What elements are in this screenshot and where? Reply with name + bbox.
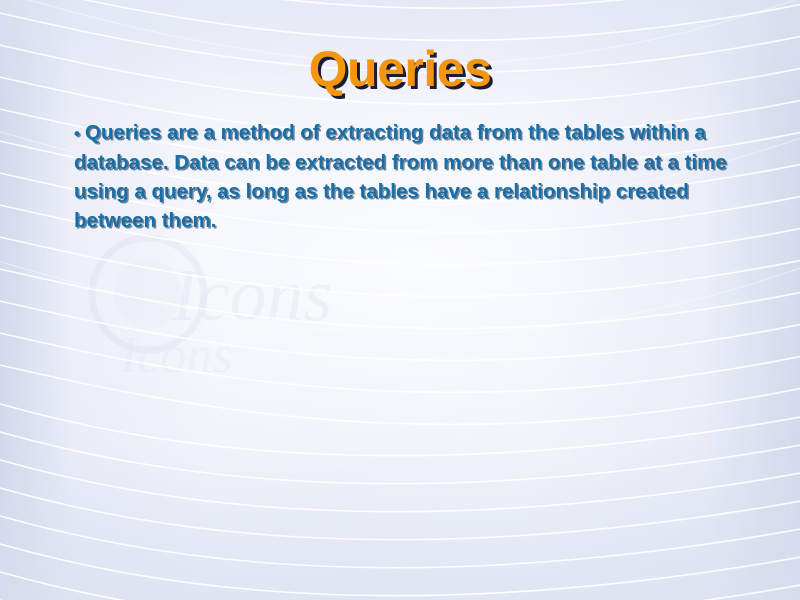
svg-text:Icons: Icons <box>119 327 233 382</box>
slide-body: •Queries are a method of extracting data… <box>74 118 734 235</box>
presentation-slide: Icons Icons <box>0 0 800 600</box>
bullet-marker: • <box>74 124 85 143</box>
watermark-logo: Icons Icons <box>60 232 360 382</box>
watermark-text: Icons <box>171 255 332 337</box>
slide-title: Queries <box>0 40 800 98</box>
bullet-text: Queries are a method of extracting data … <box>74 121 727 232</box>
bullet-paragraph: •Queries are a method of extracting data… <box>74 118 734 235</box>
